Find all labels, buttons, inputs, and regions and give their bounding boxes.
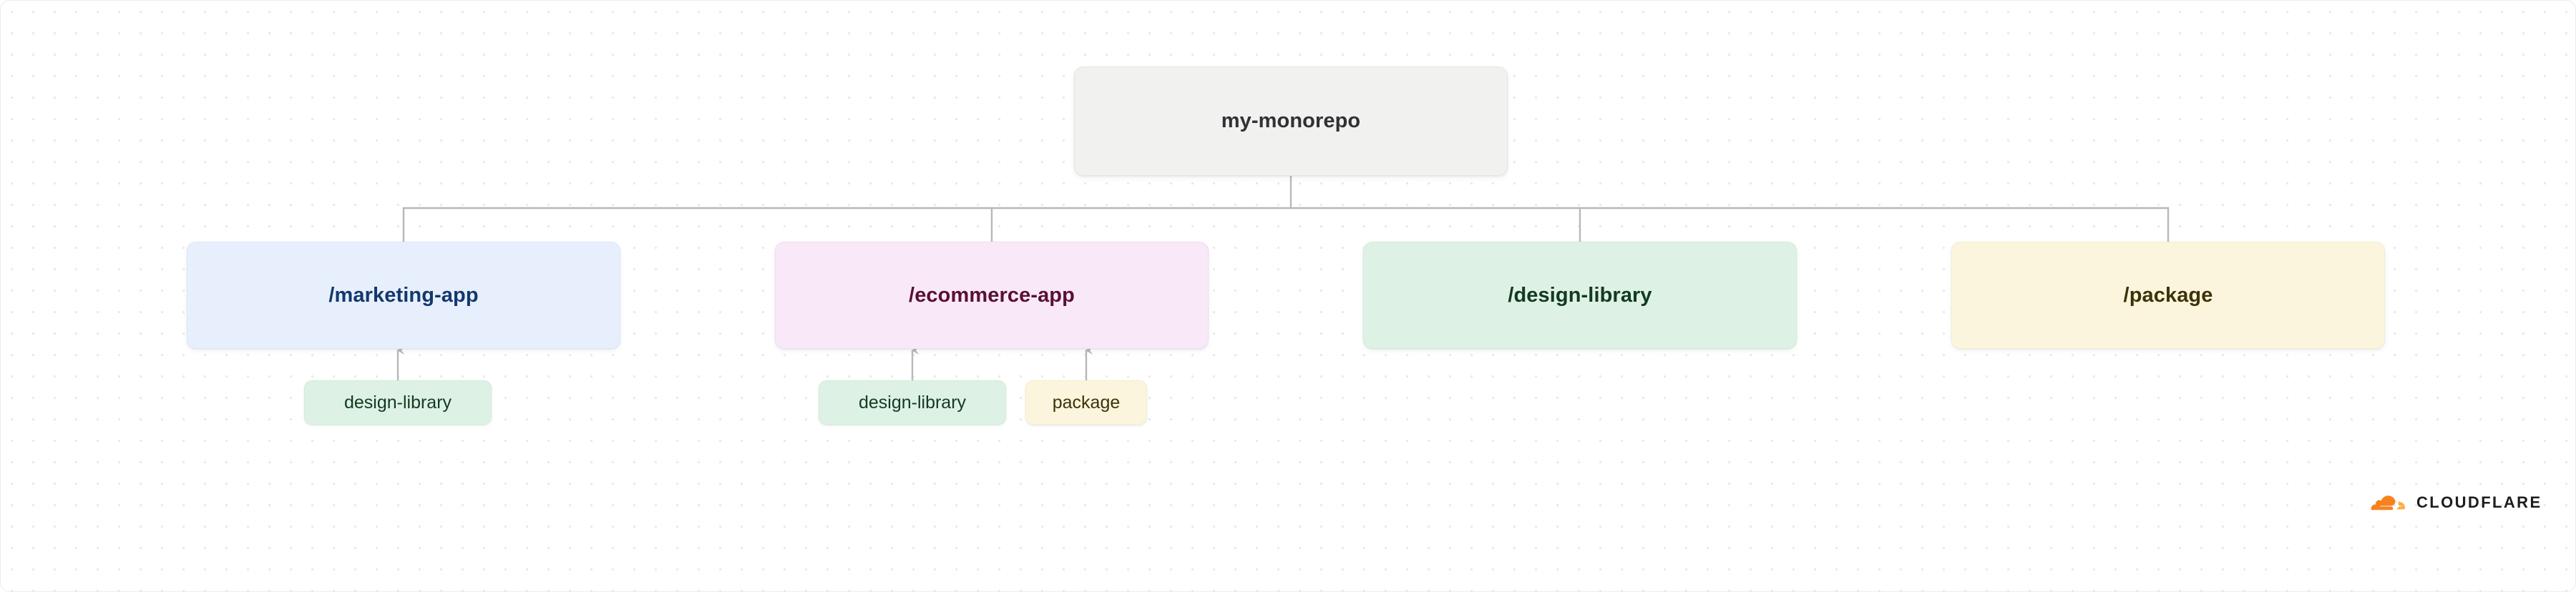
node-label: /design-library bbox=[1508, 284, 1652, 307]
node-label: /package bbox=[2124, 284, 2213, 307]
node-ecommerce-app[interactable]: /ecommerce-app bbox=[775, 242, 1209, 349]
node-label: /marketing-app bbox=[328, 284, 478, 307]
node-my-monorepo[interactable]: my-monorepo bbox=[1074, 66, 1508, 176]
node-package[interactable]: /package bbox=[1951, 242, 2385, 349]
dependency-chip-label: package bbox=[1053, 393, 1121, 413]
dependency-chip-design-library[interactable]: design-library bbox=[304, 380, 492, 425]
node-design-library[interactable]: /design-library bbox=[1363, 242, 1797, 349]
cloudflare-wordmark: CLOUDFLARE bbox=[2416, 495, 2542, 510]
dependency-chip-package[interactable]: package bbox=[1025, 380, 1147, 425]
node-label: /ecommerce-app bbox=[909, 284, 1075, 307]
dependency-chip-label: design-library bbox=[344, 393, 452, 413]
diagram-canvas: my-monorepo /marketing-app /ecommerce-ap… bbox=[0, 0, 2576, 592]
cloudflare-logo: CLOUDFLARE bbox=[2358, 492, 2542, 513]
dependency-chip-label: design-library bbox=[859, 393, 966, 413]
cloudflare-cloud-icon bbox=[2358, 492, 2407, 513]
node-marketing-app[interactable]: /marketing-app bbox=[187, 242, 620, 349]
node-label: my-monorepo bbox=[1221, 109, 1360, 133]
dependency-chip-design-library[interactable]: design-library bbox=[819, 380, 1006, 425]
